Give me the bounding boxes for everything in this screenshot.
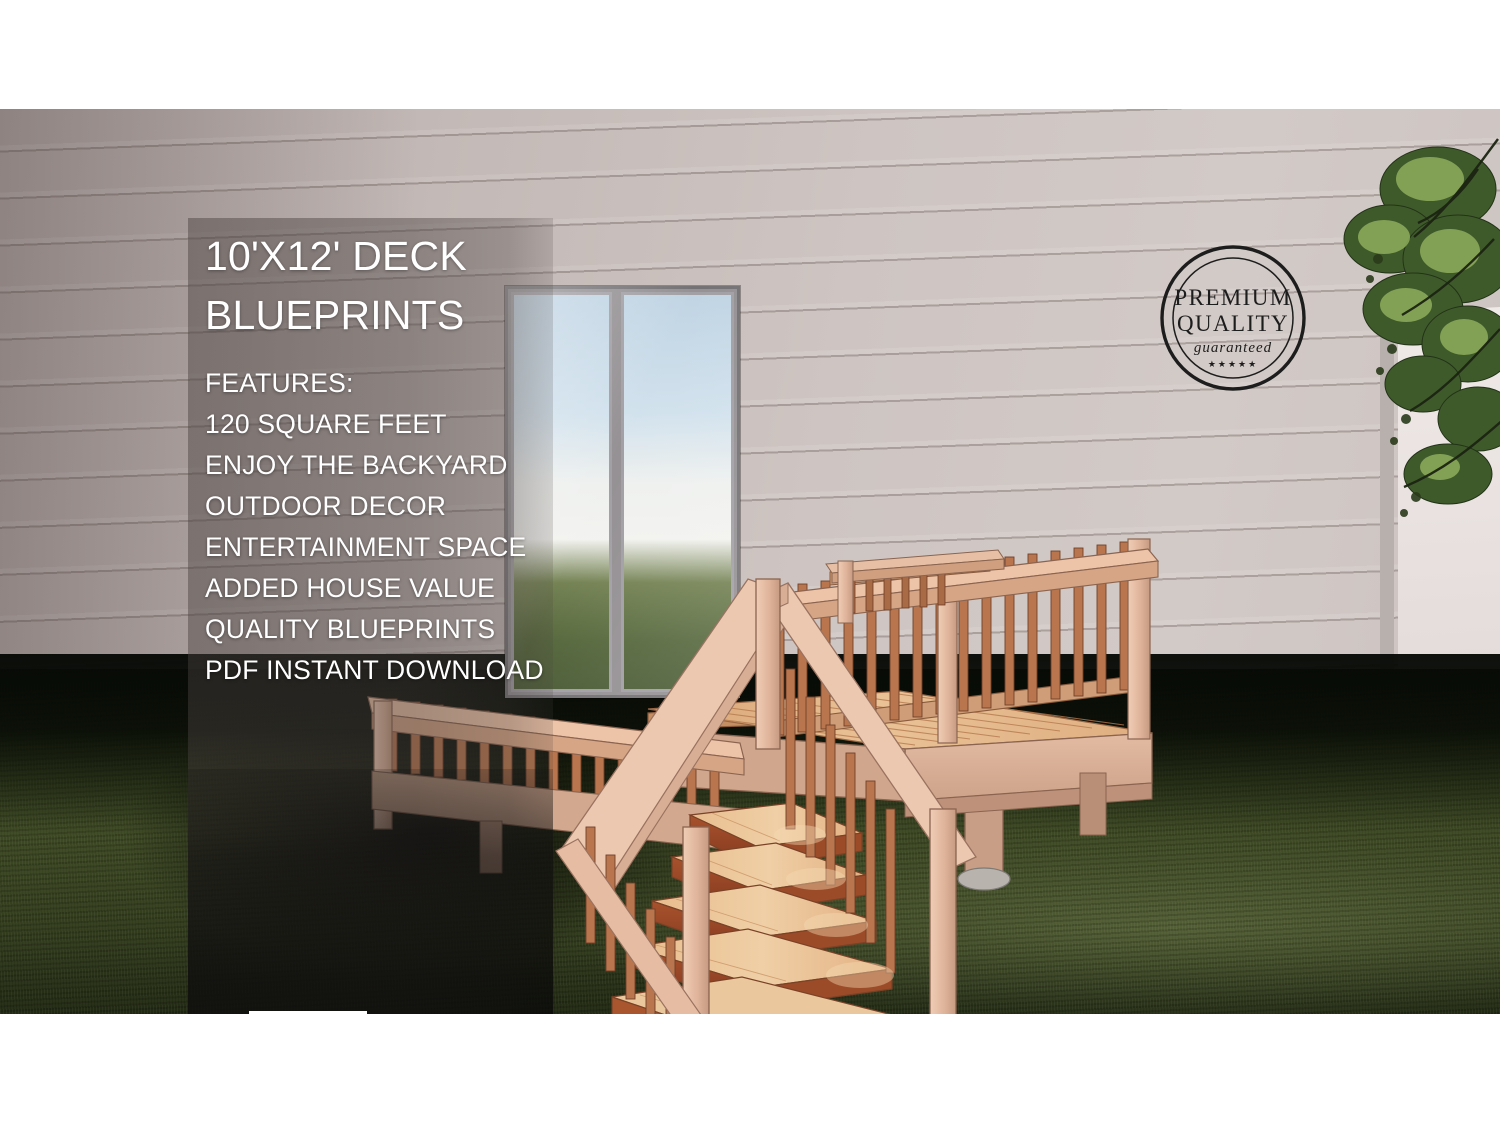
badge-line-1: PREMIUM <box>1174 285 1291 310</box>
brand-logo: BLUEPRINT UNLIMITED <box>197 1007 373 1014</box>
feature-item-3: OUTDOOR DECOR <box>205 486 565 527</box>
badge-script: guaranteed <box>1194 340 1272 356</box>
feature-item-6: QUALITY BLUEPRINTS <box>205 609 565 650</box>
badge-stars: ★★★★★ <box>1208 360 1258 370</box>
features-list: FEATURES: 120 SQUARE FEET ENJOY THE BACK… <box>205 363 565 691</box>
feature-item-4: ENTERTAINMENT SPACE <box>205 527 565 568</box>
logo-bracket-top-vertical <box>360 1011 367 1014</box>
listing-image: 10'X12' DECK BLUEPRINTS FEATURES: 120 SQ… <box>0 0 1500 1124</box>
premium-quality-badge: PREMIUM QUALITY guaranteed ★★★★★ <box>1158 243 1308 393</box>
badge-line-2: QUALITY <box>1177 311 1289 336</box>
feature-item-2: ENJOY THE BACKYARD <box>205 445 565 486</box>
product-photo: 10'X12' DECK BLUEPRINTS FEATURES: 120 SQ… <box>0 109 1500 1014</box>
feature-item-7: PDF INSTANT DOWNLOAD <box>205 650 565 691</box>
listing-text-block: 10'X12' DECK BLUEPRINTS FEATURES: 120 SQ… <box>205 227 565 691</box>
feature-item-1: 120 SQUARE FEET <box>205 404 565 445</box>
features-heading: FEATURES: <box>205 363 565 404</box>
page-title-line-2: BLUEPRINTS <box>205 286 565 345</box>
logo-bracket-top <box>249 1011 367 1014</box>
page-title-line-1: 10'X12' DECK <box>205 227 565 286</box>
feature-item-5: ADDED HOUSE VALUE <box>205 568 565 609</box>
